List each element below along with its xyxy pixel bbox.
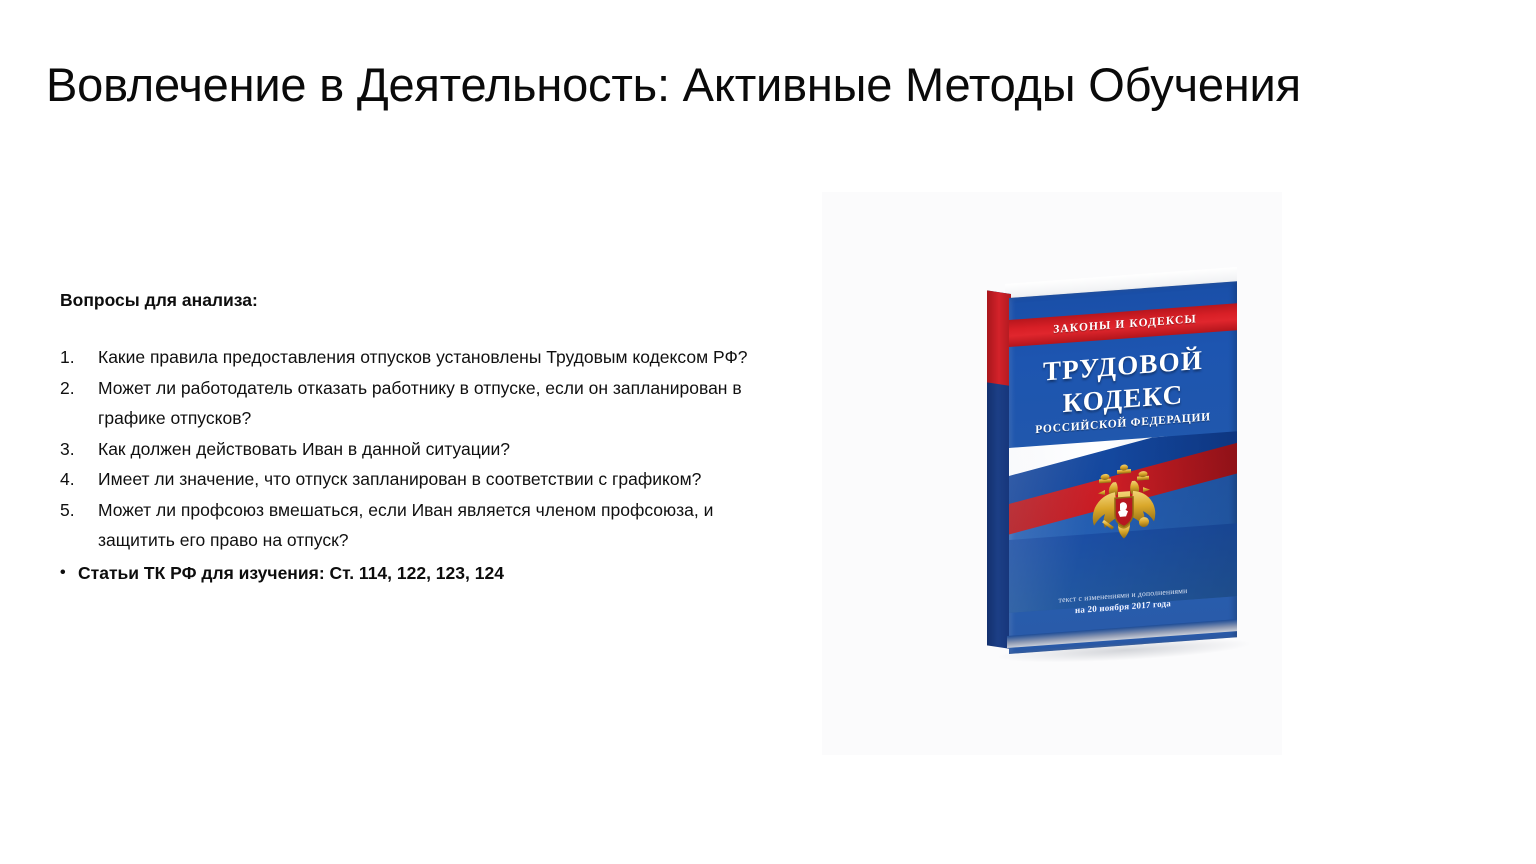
questions-list: 1. Какие правила предоставления отпусков… [60, 342, 790, 556]
book-cover-red-band: ЗАКОНЫ И КОДЕКСЫ [1009, 303, 1237, 348]
list-item-text: Какие правила предоставления отпусков ус… [98, 347, 747, 367]
list-item: 2. Может ли работодатель отказать работн… [60, 373, 790, 434]
list-item-number: 5. [60, 495, 84, 526]
questions-heading: Вопросы для анализа: [60, 288, 790, 312]
book-cover-band-text: ЗАКОНЫ И КОДЕКСЫ [1009, 303, 1237, 348]
articles-bullet-text: Статьи ТК РФ для изучения: Ст. 114, 122,… [78, 563, 504, 583]
book-spine-main-label: ТРУДОВОЙ КОДЕКС [987, 397, 989, 630]
list-item-number: 4. [60, 464, 84, 495]
articles-bullet: • Статьи ТК РФ для изучения: Ст. 114, 12… [60, 557, 790, 589]
book-spine-red-section [987, 290, 1011, 386]
list-item: 5. Может ли профсоюз вмешаться, если Ива… [60, 495, 790, 556]
bullet-icon: • [60, 557, 66, 589]
russian-coat-of-arms-double-headed-eagle-icon [1087, 461, 1161, 558]
content-body: Вопросы для анализа: 1. Какие правила пр… [60, 288, 790, 589]
book-image-panel: ЗАКОНЫ И КОДЕКСЫ ТРУДОВОЙ КОДЕКС ЗАКОНЫ … [822, 192, 1282, 755]
book-spine: ЗАКОНЫ И КОДЕКСЫ ТРУДОВОЙ КОДЕКС [987, 290, 1011, 649]
list-item: 1. Какие правила предоставления отпусков… [60, 342, 790, 373]
list-item-text: Как должен действовать Иван в данной сит… [98, 439, 510, 459]
list-item-number: 1. [60, 342, 84, 373]
list-item: 3. Как должен действовать Иван в данной … [60, 434, 790, 465]
list-item: 4. Имеет ли значение, что отпуск заплани… [60, 464, 790, 495]
list-item-number: 2. [60, 373, 84, 404]
list-item-text: Имеет ли значение, что отпуск запланиров… [98, 469, 701, 489]
book-front-cover: ЗАКОНЫ И КОДЕКСЫ ТРУДОВОЙ КОДЕКС РОССИЙС… [1009, 281, 1237, 654]
slide-title: Вовлечение в Деятельность: Активные Мето… [46, 56, 1466, 114]
list-item-text: Может ли профсоюз вмешаться, если Иван я… [98, 500, 713, 551]
list-item-number: 3. [60, 434, 84, 465]
labour-code-book-illustration: ЗАКОНЫ И КОДЕКСЫ ТРУДОВОЙ КОДЕКС ЗАКОНЫ … [987, 284, 1237, 662]
list-item-text: Может ли работодатель отказать работнику… [98, 378, 742, 429]
